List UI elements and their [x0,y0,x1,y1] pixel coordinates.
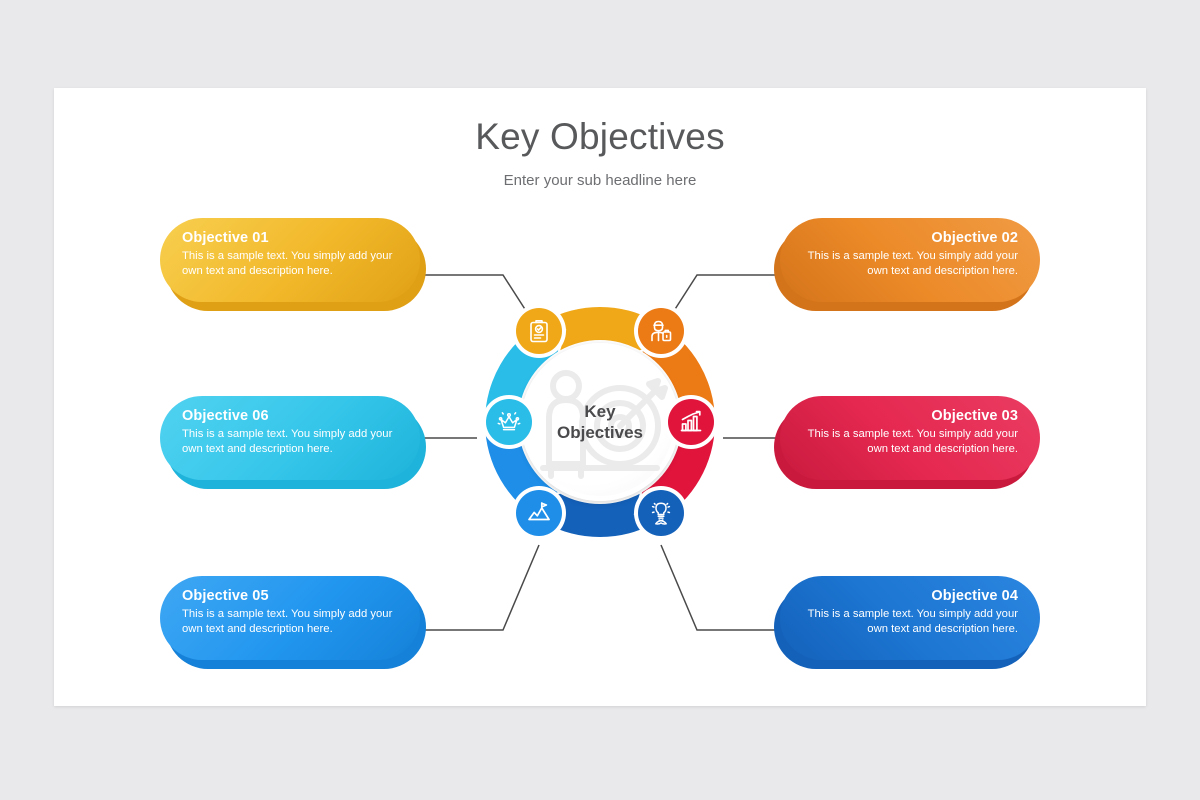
card-description-01: This is a sample text. You simply add yo… [182,249,398,278]
crown-icon [496,409,522,435]
icon-badge-05[interactable] [516,490,562,536]
card-description-06: This is a sample text. You simply add yo… [182,427,398,456]
card-description-04: This is a sample text. You simply add yo… [802,607,1018,636]
objective-card-02[interactable]: Objective 02 This is a sample text. You … [780,218,1040,302]
card-title-03: Objective 03 [802,407,1018,425]
hub-center-circle: Key Objectives [521,343,679,501]
objective-card-04[interactable]: Objective 04 This is a sample text. You … [780,576,1040,660]
hub-label-line-1: Key [521,401,679,422]
card-title-06: Objective 06 [182,407,398,425]
objective-card-06[interactable]: Objective 06 This is a sample text. You … [160,396,420,480]
hub-label-line-2: Objectives [521,422,679,443]
idea-bulb-icon [648,500,674,526]
hub-label: Key Objectives [521,401,679,443]
growth-chart-icon [678,409,704,435]
clipboard-check-icon [526,318,552,344]
card-title-01: Objective 01 [182,229,398,247]
page-subtitle: Enter your sub headline here [54,172,1146,189]
card-title-02: Objective 02 [802,229,1018,247]
mountain-flag-icon [526,500,552,526]
card-title-05: Objective 05 [182,587,398,605]
card-title-04: Objective 04 [802,587,1018,605]
objective-card-01[interactable]: Objective 01 This is a sample text. You … [160,218,420,302]
icon-badge-06[interactable] [486,399,532,445]
slide-canvas: Key Objectives Enter your sub headline h… [54,88,1146,706]
icon-badge-02[interactable] [638,308,684,354]
card-description-03: This is a sample text. You simply add yo… [802,427,1018,456]
page-title: Key Objectives [54,116,1146,158]
icon-badge-04[interactable] [638,490,684,536]
screenshot-stage: Key Objectives Enter your sub headline h… [0,0,1200,800]
objective-card-05[interactable]: Objective 05 This is a sample text. You … [160,576,420,660]
central-hub: Key Objectives [483,305,717,539]
card-description-02: This is a sample text. You simply add yo… [802,249,1018,278]
icon-badge-03[interactable] [668,399,714,445]
icon-badge-01[interactable] [516,308,562,354]
businessman-icon [648,318,674,344]
card-description-05: This is a sample text. You simply add yo… [182,607,398,636]
objective-card-03[interactable]: Objective 03 This is a sample text. You … [780,396,1040,480]
